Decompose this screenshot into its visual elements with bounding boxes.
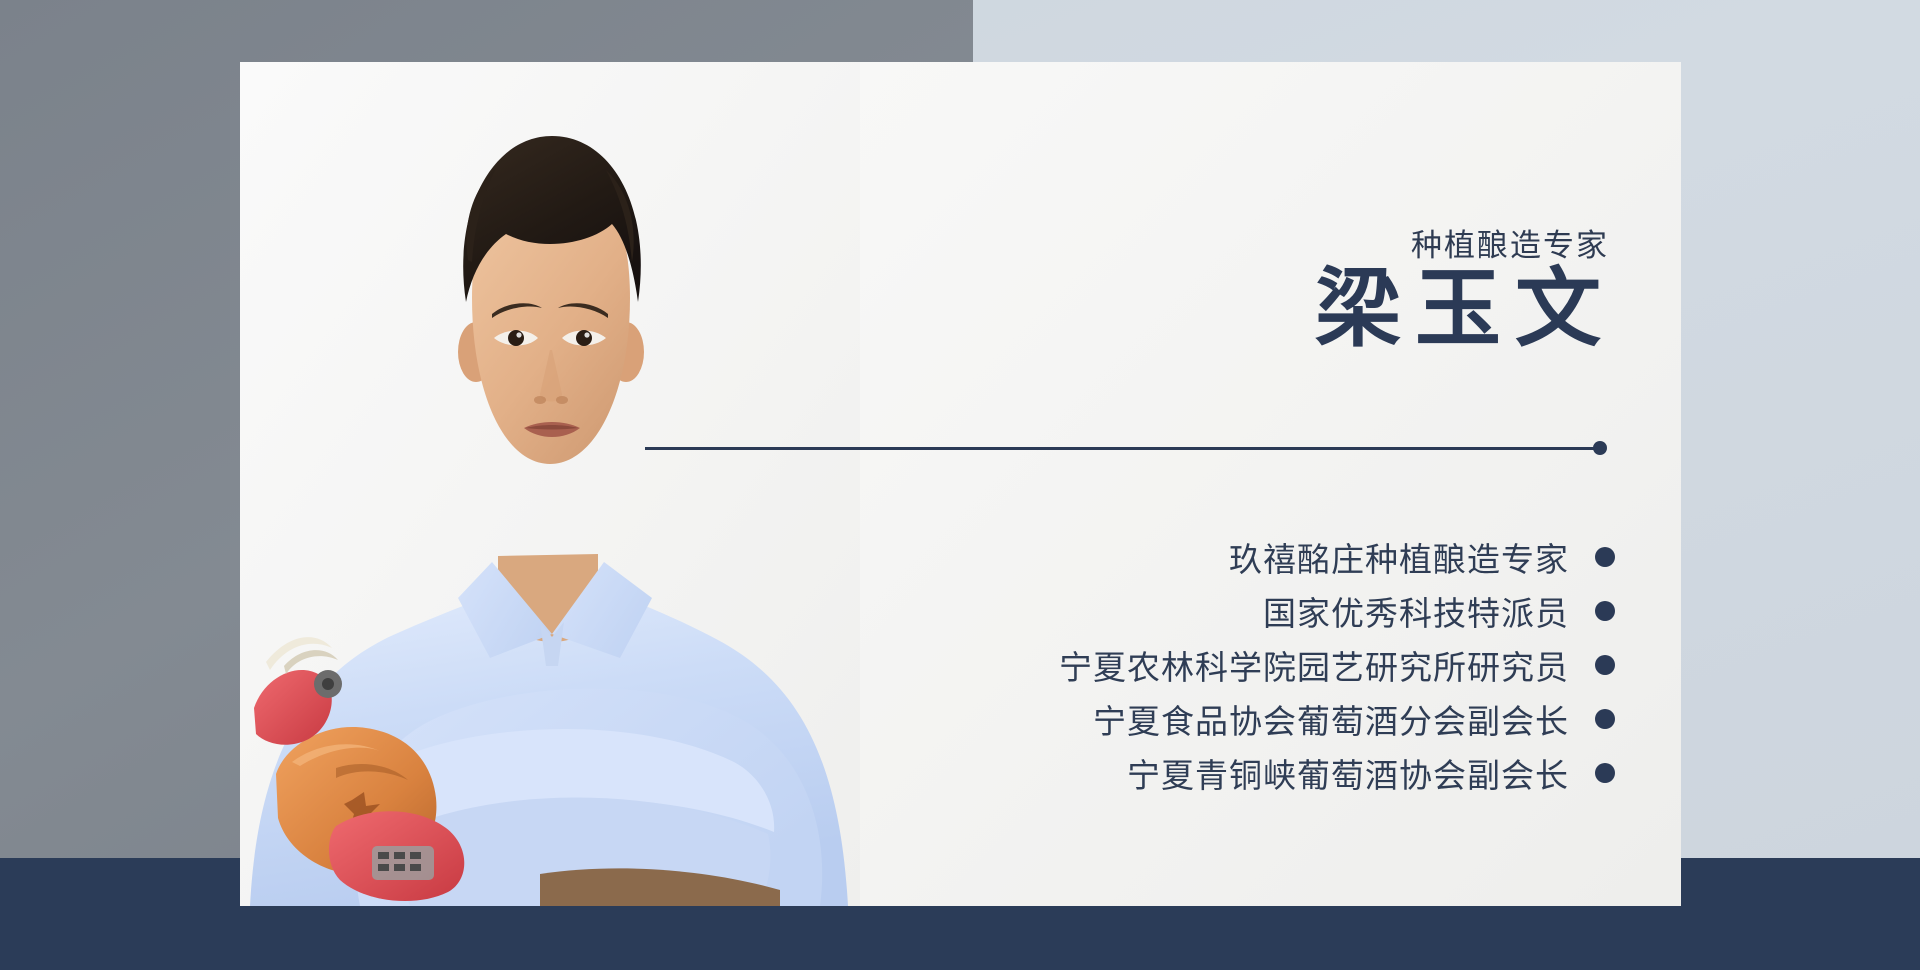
- bullet-dot-icon: [1595, 709, 1615, 729]
- credential-item: 国家优秀科技特派员: [1263, 584, 1615, 638]
- credentials-list: 玖禧酩庄种植酿造专家 国家优秀科技特派员 宁夏农林科学院园艺研究所研究员 宁夏食…: [1059, 530, 1615, 800]
- credential-item: 宁夏农林科学院园艺研究所研究员: [1059, 638, 1615, 692]
- profile-name: 梁玉文: [1315, 260, 1615, 359]
- bullet-dot-icon: [1595, 601, 1615, 621]
- credential-item: 玖禧酩庄种植酿造专家: [1229, 530, 1615, 584]
- poster-canvas: 种植酿造专家 梁玉文 玖禧酩庄种植酿造专家 国家优秀科技特派员 宁夏农林科学院园…: [0, 0, 1920, 970]
- credential-text: 玖禧酩庄种植酿造专家: [1229, 533, 1569, 581]
- credential-text: 宁夏青铜峡葡萄酒协会副会长: [1127, 749, 1569, 797]
- credential-text: 国家优秀科技特派员: [1263, 587, 1569, 635]
- profile-card: 种植酿造专家 梁玉文 玖禧酩庄种植酿造专家 国家优秀科技特派员 宁夏农林科学院园…: [240, 62, 1681, 906]
- divider-end-dot-icon: [1593, 441, 1607, 455]
- profile-subtitle: 种植酿造专家: [1411, 220, 1609, 265]
- bullet-dot-icon: [1595, 763, 1615, 783]
- bullet-dot-icon: [1595, 547, 1615, 567]
- credential-item: 宁夏青铜峡葡萄酒协会副会长: [1127, 746, 1615, 800]
- portrait-photo: [240, 62, 860, 906]
- credential-text: 宁夏食品协会葡萄酒分会副会长: [1093, 695, 1569, 743]
- divider-line: [645, 447, 1605, 450]
- credential-text: 宁夏农林科学院园艺研究所研究员: [1059, 641, 1569, 689]
- credential-item: 宁夏食品协会葡萄酒分会副会长: [1093, 692, 1615, 746]
- bullet-dot-icon: [1595, 655, 1615, 675]
